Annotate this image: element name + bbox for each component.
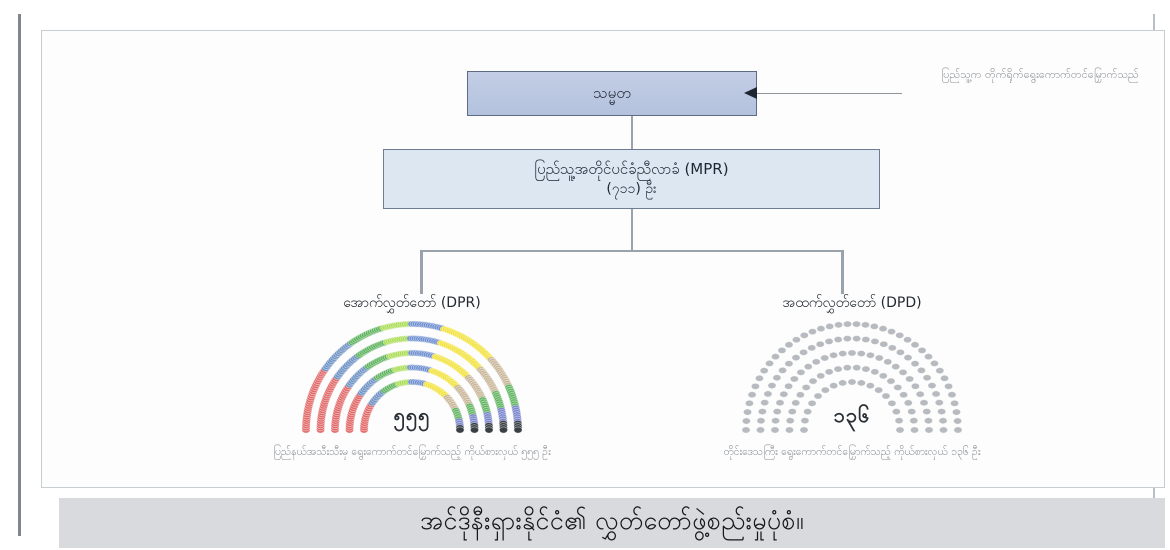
chamber-dpd-seat-arc: ၁၃၆	[672, 318, 1032, 438]
chamber-dpd-note: တိုင်းဒေသကြီး ရွေးကောက်တင်မြှောက်သည့် ကိ…	[672, 444, 1032, 460]
diagram-frame: သမ္မတ ပြည်သူ့က တိုက်ရိုက်ရွေးကောက်တင်မြှ…	[41, 30, 1165, 488]
chamber-dpd-seat-count: ၁၃၆	[672, 402, 1032, 432]
president-annotation-leader-line	[757, 93, 902, 94]
chamber-dpr: အောက်လွှတ်တော် (DPR) ၅၅၅ ပြည်နယ်အသီးသီးမ…	[232, 293, 592, 460]
connector-assembly-stem	[631, 209, 633, 251]
chamber-dpd: အထက်လွှတ်တော် (DPD) ၁၃၆ တိုင်းဒေသကြီး ရွ…	[672, 293, 1032, 460]
connector-to-dpr	[420, 250, 423, 294]
diagram-canvas: သမ္မတ ပြည်သူ့က တိုက်ရိုက်ရွေးကောက်တင်မြှ…	[0, 0, 1170, 550]
node-assembly-mpr[interactable]: ပြည်သူ့အတိုင်ပင်ခံညီလာခံ (MPR) (၇၁၁) ဦး	[383, 149, 880, 209]
node-president[interactable]: သမ္မတ	[467, 71, 757, 116]
chamber-dpr-seat-count: ၅၅၅	[232, 402, 592, 432]
page-frame: သမ္မတ ပြည်သူ့က တိုက်ရိုက်ရွေးကောက်တင်မြှ…	[18, 14, 1155, 536]
chamber-dpr-title: အောက်လွှတ်တော် (DPR)	[232, 293, 592, 314]
chamber-dpr-seat-arc: ၅၅၅	[232, 318, 592, 438]
node-assembly-label: ပြည်သူ့အတိုင်ပင်ခံညီလာခံ (MPR)	[534, 159, 728, 179]
chamber-dpd-title: အထက်လွှတ်တော် (DPD)	[672, 293, 1032, 314]
node-assembly-members: (၇၁၁) ဦး	[606, 180, 656, 199]
chamber-dpr-note: ပြည်နယ်အသီးသီးမှ ရွေးကောက်တင်မြှောက်သည့်…	[232, 444, 592, 460]
connector-president-to-assembly	[631, 116, 633, 149]
bottom-title-banner: အင်ဒိုနီးရှားနိုင်ငံ၏ လွှတ်တော်ဖွဲ့စည်းမ…	[59, 498, 1165, 548]
president-annotation-arrow-icon	[744, 87, 757, 99]
node-president-label: သမ္မတ	[593, 83, 631, 103]
connector-to-dpd	[841, 250, 844, 294]
president-annotation-text: ပြည်သူ့က တိုက်ရိုက်ရွေးကောက်တင်မြှောက်သည…	[900, 67, 1170, 84]
connector-horizontal-bus	[420, 250, 844, 252]
bottom-title-text: အင်ဒိုနီးရှားနိုင်ငံ၏ လွှတ်တော်ဖွဲ့စည်းမ…	[420, 505, 804, 542]
